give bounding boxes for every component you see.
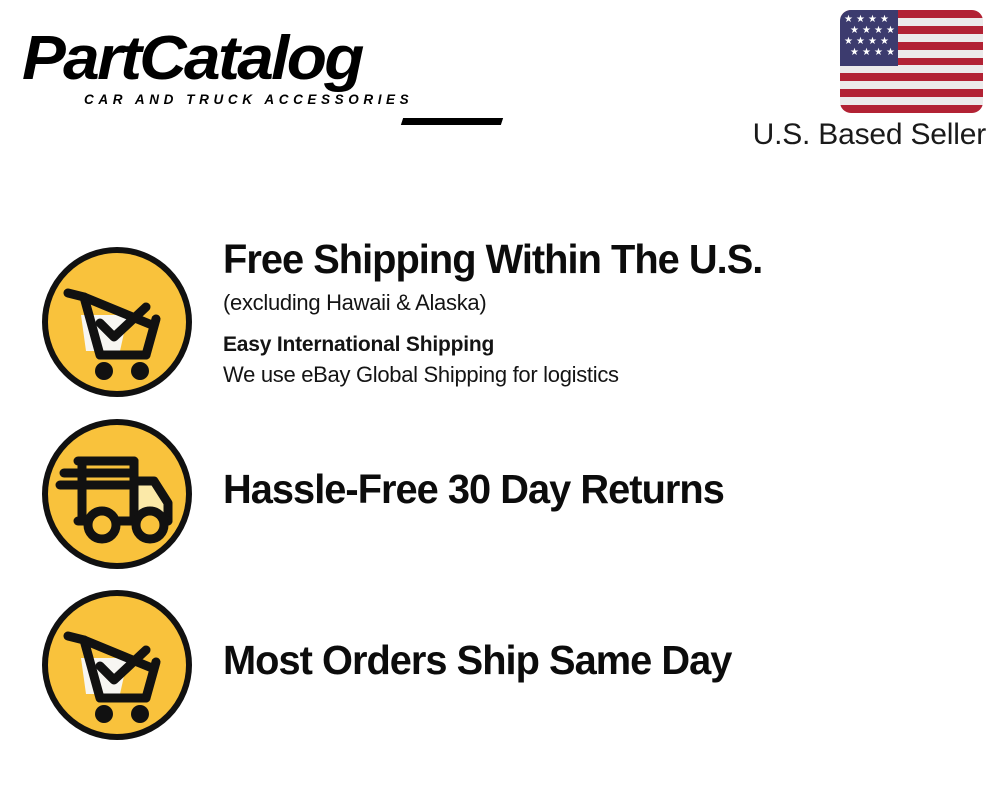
shopping-cart-check-icon bbox=[42, 590, 192, 740]
flag-star: ★ bbox=[868, 37, 877, 47]
flag-star: ★ bbox=[850, 48, 859, 58]
flag-star: ★ bbox=[844, 37, 853, 47]
feature-text-block: Hassle-Free 30 Day Returns bbox=[223, 466, 983, 512]
flag-star: ★ bbox=[856, 37, 865, 47]
feature-headline: Free Shipping Within The U.S. bbox=[223, 236, 960, 282]
flag-canton: ★ ★ ★ ★ ★ ★ ★ ★ ★ ★ ★ ★ ★ ★ ★ ★ bbox=[840, 10, 898, 66]
flag-stripe bbox=[840, 81, 983, 89]
flag-star: ★ bbox=[886, 48, 895, 58]
flag-stripe bbox=[840, 105, 983, 113]
flag-star: ★ bbox=[862, 26, 871, 36]
delivery-truck-icon bbox=[42, 419, 192, 569]
flag-star: ★ bbox=[886, 26, 895, 36]
feature-subline-emphasis: Easy International Shipping bbox=[223, 330, 983, 360]
flag-star: ★ bbox=[844, 15, 853, 25]
flag-stripe bbox=[840, 97, 983, 105]
us-based-seller-label: U.S. Based Seller bbox=[724, 118, 986, 152]
flag-star: ★ bbox=[874, 26, 883, 36]
flag-star: ★ bbox=[862, 48, 871, 58]
flag-star: ★ bbox=[880, 15, 889, 25]
brand-logo: PartCatalog CAR AND TRUCK ACCESSORIES bbox=[22, 22, 492, 122]
feature-headline: Most Orders Ship Same Day bbox=[223, 637, 960, 683]
flag-stripe bbox=[840, 65, 983, 73]
flag-graphic: ★ ★ ★ ★ ★ ★ ★ ★ ★ ★ ★ ★ ★ ★ ★ ★ bbox=[840, 10, 983, 113]
brand-wordmark: PartCatalog bbox=[22, 22, 520, 96]
brand-underline-accent bbox=[401, 118, 503, 125]
flag-star: ★ bbox=[850, 26, 859, 36]
feature-text-block: Most Orders Ship Same Day bbox=[223, 637, 983, 683]
us-flag-icon: ★ ★ ★ ★ ★ ★ ★ ★ ★ ★ ★ ★ ★ ★ ★ ★ bbox=[840, 10, 983, 113]
shopping-cart-check-icon bbox=[42, 247, 192, 397]
flag-star: ★ bbox=[856, 15, 865, 25]
flag-star: ★ bbox=[880, 37, 889, 47]
flag-stripe bbox=[840, 73, 983, 81]
feature-icon-wrap bbox=[42, 419, 192, 569]
feature-subline: (excluding Hawaii & Alaska) bbox=[223, 288, 983, 318]
feature-subline: We use eBay Global Shipping for logistic… bbox=[223, 360, 983, 390]
flag-star: ★ bbox=[874, 48, 883, 58]
flag-star: ★ bbox=[868, 15, 877, 25]
feature-icon-wrap bbox=[42, 247, 192, 397]
feature-icon-wrap bbox=[42, 590, 192, 740]
promo-banner: PartCatalog CAR AND TRUCK ACCESSORIES ★ … bbox=[0, 0, 1000, 800]
feature-headline: Hassle-Free 30 Day Returns bbox=[223, 466, 960, 512]
feature-text-block: Free Shipping Within The U.S. (excluding… bbox=[223, 236, 983, 390]
flag-stripe bbox=[840, 89, 983, 97]
